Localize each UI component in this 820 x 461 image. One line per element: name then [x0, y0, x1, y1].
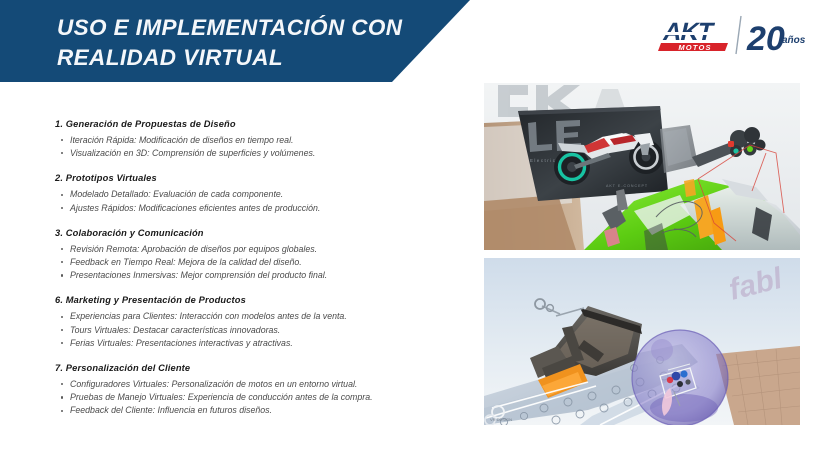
list-item: Experiencias para Clientes: Interacción …	[55, 310, 455, 323]
svg-text:20: 20	[746, 20, 785, 58]
bullet-dot-icon	[61, 342, 63, 344]
bullet-dot-icon	[61, 329, 63, 331]
vr-motorcycle-scene: Electric AKT E-CONCEPT	[484, 83, 800, 250]
svg-text:años: años	[782, 35, 806, 46]
list-item-text: Ferias Virtuales: Presentaciones interac…	[70, 338, 293, 348]
section-heading: 6. Marketing y Presentación de Productos	[55, 294, 455, 307]
logo-artwork: AKT MOTOS 20 años	[655, 10, 810, 60]
logo-anniversary: 20 años	[746, 20, 806, 58]
vr-cad-scene: fabl	[484, 258, 800, 425]
list-item: Feedback del Cliente: Influencia en futu…	[55, 404, 455, 417]
list-item-text: Tours Virtuales: Destacar característica…	[70, 325, 280, 335]
list-item: Tours Virtuales: Destacar característica…	[55, 324, 455, 337]
content-block: 6. Marketing y Presentación de Productos…	[55, 294, 455, 350]
list-item: Presentaciones Inmersivas: Mejor compren…	[55, 269, 455, 282]
bullet-dot-icon	[61, 396, 63, 398]
bullet-dot-icon	[61, 248, 63, 250]
section-heading: 7. Personalización del Cliente	[55, 362, 455, 375]
section-heading: 1. Generación de Propuestas de Diseño	[55, 118, 455, 131]
bullet-dot-icon	[61, 383, 63, 385]
svg-text:AKT E-CONCEPT: AKT E-CONCEPT	[606, 184, 648, 188]
section-bullet-list: Modelado Detallado: Evaluación de cada c…	[55, 188, 455, 214]
section-heading: 2. Prototipos Virtuales	[55, 172, 455, 185]
bullet-content: 1. Generación de Propuestas de DiseñoIte…	[55, 118, 455, 418]
page-title: USO E IMPLEMENTACIÓN CON REALIDAD VIRTUA…	[57, 13, 457, 73]
section-bullet-list: Revisión Remota: Aprobación de diseños p…	[55, 243, 455, 283]
design-render-screen: Electric AKT E-CONCEPT	[518, 106, 668, 201]
bullet-dot-icon	[61, 410, 63, 412]
list-item: Ajustes Rápidos: Modificaciones eficient…	[55, 202, 455, 215]
list-item-text: Presentaciones Inmersivas: Mejor compren…	[70, 270, 327, 280]
section-bullet-list: Configuradores Virtuales: Personalizació…	[55, 378, 455, 418]
content-block: 2. Prototipos VirtualesModelado Detallad…	[55, 172, 455, 214]
list-item-text: Pruebas de Manejo Virtuales: Experiencia…	[70, 392, 373, 402]
bullet-dot-icon	[61, 152, 63, 154]
image-vr-motorcycle-design-review: Electric AKT E-CONCEPT	[484, 83, 800, 250]
content-block: 3. Colaboración y ComunicaciónRevisión R…	[55, 227, 455, 283]
list-item-text: Experiencias para Clientes: Interacción …	[70, 311, 347, 321]
bullet-dot-icon	[61, 274, 63, 276]
section-heading: 3. Colaboración y Comunicación	[55, 227, 455, 240]
list-item: Configuradores Virtuales: Personalizació…	[55, 378, 455, 391]
list-item-text: Revisión Remota: Aprobación de diseños p…	[70, 244, 317, 254]
list-item-text: Visualización en 3D: Comprensión de supe…	[70, 148, 315, 158]
content-block: 7. Personalización del ClienteConfigurad…	[55, 362, 455, 418]
content-block: 1. Generación de Propuestas de DiseñoIte…	[55, 118, 455, 160]
scene-corner-label: VR DESIGN	[490, 417, 512, 422]
logo-motos-banner: MOTOS	[658, 43, 728, 52]
bullet-dot-icon	[61, 261, 63, 263]
list-item-text: Modelado Detallado: Evaluación de cada c…	[70, 189, 283, 199]
list-item-text: Ajustes Rápidos: Modificaciones eficient…	[70, 203, 320, 213]
logo-divider	[736, 16, 741, 54]
list-item: Ferias Virtuales: Presentaciones interac…	[55, 337, 455, 350]
list-item-text: Feedback del Cliente: Influencia en futu…	[70, 405, 272, 415]
section-bullet-list: Iteración Rápida: Modificación de diseño…	[55, 134, 455, 160]
list-item: Pruebas de Manejo Virtuales: Experiencia…	[55, 391, 455, 404]
list-item: Modelado Detallado: Evaluación de cada c…	[55, 188, 455, 201]
list-item: Visualización en 3D: Comprensión de supe…	[55, 147, 455, 160]
bullet-dot-icon	[61, 207, 63, 209]
bullet-dot-icon	[61, 139, 63, 141]
list-item: Feedback en Tiempo Real: Mejora de la ca…	[55, 256, 455, 269]
list-item: Revisión Remota: Aprobación de diseños p…	[55, 243, 455, 256]
akt-motos-logo: AKT MOTOS 20 años	[655, 10, 810, 60]
bullet-dot-icon	[61, 194, 63, 196]
list-item-text: Iteración Rápida: Modificación de diseño…	[70, 135, 293, 145]
svg-text:MOTOS: MOTOS	[678, 43, 711, 52]
list-item-text: Configuradores Virtuales: Personalizació…	[70, 379, 357, 389]
svg-text:Electric: Electric	[530, 158, 556, 163]
list-item-text: Feedback en Tiempo Real: Mejora de la ca…	[70, 257, 302, 267]
slide-canvas: USO E IMPLEMENTACIÓN CON REALIDAD VIRTUA…	[0, 0, 820, 461]
logo-notch	[661, 32, 719, 35]
bullet-dot-icon	[61, 316, 63, 318]
section-bullet-list: Experiencias para Clientes: Interacción …	[55, 310, 455, 350]
image-vr-cad-assembly-scene: fabl	[484, 258, 800, 425]
list-item: Iteración Rápida: Modificación de diseño…	[55, 134, 455, 147]
